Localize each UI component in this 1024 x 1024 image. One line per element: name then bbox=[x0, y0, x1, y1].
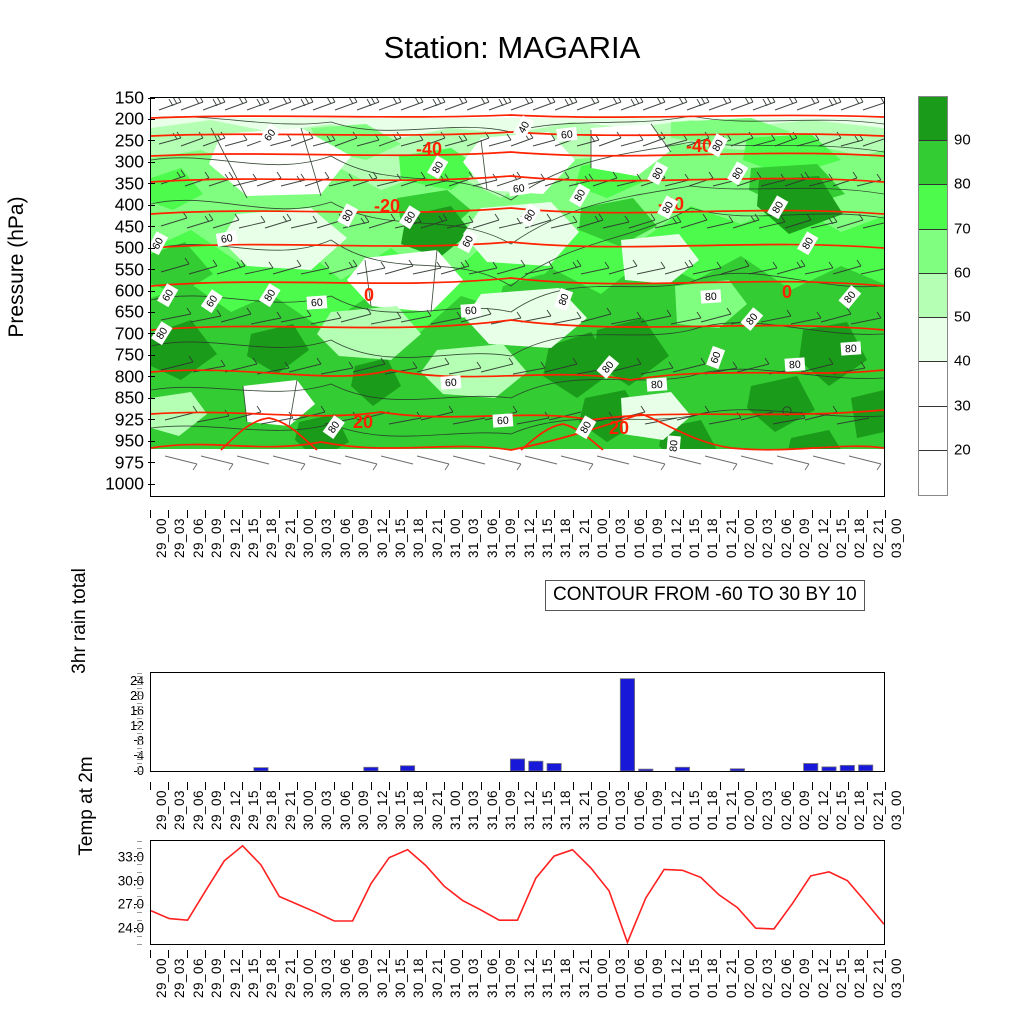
pressure-tick-label: 300 bbox=[88, 152, 144, 173]
time-tick-mark bbox=[554, 510, 555, 518]
time-tick-label: 01_03 bbox=[613, 790, 628, 830]
main-contour-panel: -40 -40 -20 -20 0 0 20 20 60 80 80 80 60… bbox=[150, 97, 885, 497]
time-tick-mark bbox=[481, 510, 482, 518]
time-tick-label: 30_12 bbox=[375, 518, 390, 558]
time-tick-label: 01_09 bbox=[650, 958, 665, 998]
time-tick-mark bbox=[701, 510, 702, 518]
time-tick-label: 29_09 bbox=[209, 518, 224, 558]
time-tick-label: 30_03 bbox=[319, 958, 334, 998]
time-tick-mark bbox=[315, 782, 316, 790]
svg-text:80: 80 bbox=[705, 291, 718, 304]
time-tick-mark bbox=[150, 510, 151, 518]
svg-text:60: 60 bbox=[445, 377, 458, 390]
below-surface-blank bbox=[151, 450, 884, 496]
time-tick-mark bbox=[793, 510, 794, 518]
rain-minor-tick bbox=[137, 691, 142, 692]
time-tick-mark bbox=[775, 510, 776, 518]
time-tick-mark bbox=[371, 782, 372, 790]
time-tick-label: 02_06 bbox=[779, 790, 794, 830]
time-tick-label: 29_03 bbox=[172, 958, 187, 998]
time-tick-mark bbox=[830, 782, 831, 790]
rain-minor-tick bbox=[137, 729, 142, 730]
time-tick-mark bbox=[205, 510, 206, 518]
colorbar-tick-labels: 9080706050403020 bbox=[918, 96, 1018, 496]
time-tick-mark bbox=[830, 510, 831, 518]
time-tick-label: 29_06 bbox=[191, 518, 206, 558]
time-tick-label: 02_03 bbox=[760, 790, 775, 830]
time-tick-mark bbox=[444, 950, 445, 958]
rain-minor-tick bbox=[137, 680, 142, 681]
temperature-minor-tick bbox=[137, 888, 142, 889]
time-tick-label: 02_09 bbox=[797, 518, 812, 558]
time-tick-label: 29_00 bbox=[154, 958, 169, 998]
time-tick-label: 29_21 bbox=[283, 790, 298, 830]
time-tick-mark bbox=[885, 782, 886, 790]
rain-bar bbox=[804, 763, 818, 771]
rain-bar bbox=[547, 763, 561, 771]
time-tick-mark bbox=[665, 782, 666, 790]
time-tick-mark bbox=[573, 510, 574, 518]
time-tick-label: 01_09 bbox=[650, 518, 665, 558]
time-tick-mark bbox=[867, 950, 868, 958]
rain-minor-tick bbox=[137, 740, 142, 741]
time-tick-mark bbox=[150, 782, 151, 790]
rain-minor-tick bbox=[137, 718, 142, 719]
time-tick-label: 29_15 bbox=[246, 958, 261, 998]
time-tick-label: 02_03 bbox=[760, 958, 775, 998]
rain-panel bbox=[150, 672, 885, 772]
rain-minor-tick bbox=[137, 699, 142, 700]
rain-y-axis-labels: 24201612840 bbox=[104, 672, 144, 772]
time-tick-mark bbox=[701, 950, 702, 958]
temperature-minor-tick bbox=[137, 848, 142, 849]
time-tick-label: 29_00 bbox=[154, 518, 169, 558]
temperature-minor-tick bbox=[137, 856, 142, 857]
time-tick-label: 31_00 bbox=[448, 958, 463, 998]
time-tick-label: 30_12 bbox=[375, 958, 390, 998]
pressure-tick-mark bbox=[148, 291, 155, 292]
time-tick-mark bbox=[426, 950, 427, 958]
time-tick-label: 30_09 bbox=[356, 518, 371, 558]
time-tick-label: 02_12 bbox=[816, 518, 831, 558]
time-tick-mark bbox=[224, 782, 225, 790]
time-tick-label: 31_18 bbox=[558, 790, 573, 830]
time-tick-mark bbox=[848, 950, 849, 958]
pressure-tick-mark bbox=[148, 162, 155, 163]
time-tick-mark bbox=[756, 782, 757, 790]
pressure-tick-mark bbox=[148, 462, 155, 463]
time-tick-mark bbox=[279, 510, 280, 518]
rain-minor-tick bbox=[137, 744, 142, 745]
time-tick-mark bbox=[462, 510, 463, 518]
rain-minor-tick bbox=[137, 688, 142, 689]
temperature-minor-tick bbox=[137, 944, 142, 945]
colorbar-tick-label: 20 bbox=[954, 441, 971, 458]
time-tick-label: 31_15 bbox=[540, 958, 555, 998]
time-tick-label: 30_15 bbox=[393, 958, 408, 998]
time-tick-label: 31_00 bbox=[448, 518, 463, 558]
time-tick-mark bbox=[481, 782, 482, 790]
rain-minor-tick bbox=[137, 673, 142, 674]
time-tick-label: 02_18 bbox=[852, 518, 867, 558]
svg-text:80: 80 bbox=[845, 343, 858, 356]
time-tick-label: 29_06 bbox=[191, 790, 206, 830]
svg-text:80: 80 bbox=[651, 379, 664, 392]
time-tick-mark bbox=[628, 510, 629, 518]
time-tick-mark bbox=[260, 950, 261, 958]
rain-minor-tick bbox=[137, 752, 142, 753]
time-tick-mark bbox=[224, 950, 225, 958]
svg-text:80: 80 bbox=[668, 439, 681, 452]
time-tick-mark bbox=[609, 782, 610, 790]
time-tick-mark bbox=[830, 950, 831, 958]
time-tick-mark bbox=[168, 510, 169, 518]
time-tick-label: 30_18 bbox=[411, 790, 426, 830]
temperature-minor-tick bbox=[137, 904, 142, 905]
time-tick-label: 02_12 bbox=[816, 790, 831, 830]
pressure-tick-mark bbox=[148, 376, 155, 377]
pressure-tick-mark bbox=[148, 333, 155, 334]
time-tick-mark bbox=[334, 950, 335, 958]
rain-minor-tick bbox=[137, 737, 142, 738]
time-tick-label: 02_03 bbox=[760, 518, 775, 558]
time-tick-label: 31_21 bbox=[577, 958, 592, 998]
time-tick-label: 30_06 bbox=[338, 790, 353, 830]
colorbar-tick-label: 90 bbox=[954, 132, 971, 149]
time-tick-label: 02_21 bbox=[871, 518, 886, 558]
temperature-line-chart bbox=[151, 841, 884, 944]
time-tick-mark bbox=[205, 782, 206, 790]
time-tick-label: 01_00 bbox=[595, 958, 610, 998]
time-tick-label: 30_00 bbox=[301, 518, 316, 558]
time-tick-label: 01_00 bbox=[595, 518, 610, 558]
time-tick-mark bbox=[812, 782, 813, 790]
time-tick-mark bbox=[848, 510, 849, 518]
time-tick-mark bbox=[426, 510, 427, 518]
time-tick-mark bbox=[793, 950, 794, 958]
time-tick-mark bbox=[444, 510, 445, 518]
time-tick-mark bbox=[756, 510, 757, 518]
rain-minor-tick bbox=[137, 710, 142, 711]
time-tick-label: 31_03 bbox=[466, 790, 481, 830]
pressure-tick-label: 850 bbox=[88, 388, 144, 409]
time-tick-label: 01_03 bbox=[613, 958, 628, 998]
time-tick-mark bbox=[352, 510, 353, 518]
contour-note-box: CONTOUR FROM -60 TO 30 BY 10 bbox=[545, 580, 865, 611]
time-tick-mark bbox=[260, 782, 261, 790]
time-tick-label: 31_00 bbox=[448, 790, 463, 830]
rain-bar bbox=[675, 767, 689, 771]
pressure-tick-label: 200 bbox=[88, 109, 144, 130]
time-tick-label: 01_06 bbox=[632, 790, 647, 830]
pressure-tick-label: 250 bbox=[88, 130, 144, 151]
time-tick-label: 02_06 bbox=[779, 958, 794, 998]
pressure-tick-label: 1000 bbox=[88, 474, 144, 495]
time-tick-label: 02_18 bbox=[852, 790, 867, 830]
pressure-tick-label: 700 bbox=[88, 323, 144, 344]
time-tick-mark bbox=[591, 950, 592, 958]
time-tick-label: 31_09 bbox=[503, 518, 518, 558]
time-tick-mark bbox=[242, 510, 243, 518]
time-tick-mark bbox=[793, 782, 794, 790]
pressure-tick-mark bbox=[148, 269, 155, 270]
time-tick-mark bbox=[738, 510, 739, 518]
pressure-tick-mark bbox=[148, 441, 155, 442]
temperature-minor-tick bbox=[137, 864, 142, 865]
rain-bar bbox=[840, 765, 854, 771]
time-tick-label: 29_18 bbox=[264, 790, 279, 830]
time-tick-mark bbox=[352, 950, 353, 958]
time-tick-label: 01_15 bbox=[687, 790, 702, 830]
time-tick-mark bbox=[242, 950, 243, 958]
isotherm-label: -40 bbox=[686, 136, 712, 156]
isotherm-label: 20 bbox=[609, 418, 629, 438]
time-tick-mark bbox=[371, 510, 372, 518]
time-tick-mark bbox=[665, 510, 666, 518]
time-tick-label: 30_21 bbox=[430, 790, 445, 830]
time-tick-label: 01_21 bbox=[724, 790, 739, 830]
time-tick-label: 01_18 bbox=[705, 958, 720, 998]
time-tick-mark bbox=[775, 950, 776, 958]
time-tick-label: 30_15 bbox=[393, 790, 408, 830]
time-tick-mark bbox=[609, 950, 610, 958]
time-tick-label: 31_18 bbox=[558, 518, 573, 558]
time-tick-mark bbox=[279, 782, 280, 790]
pressure-tick-label: 925 bbox=[88, 409, 144, 430]
time-tick-mark bbox=[738, 782, 739, 790]
time-tick-mark bbox=[628, 950, 629, 958]
pressure-tick-label: 150 bbox=[88, 88, 144, 109]
time-tick-mark bbox=[518, 510, 519, 518]
time-tick-mark bbox=[665, 950, 666, 958]
time-tick-label: 03_00 bbox=[889, 790, 904, 830]
time-tick-label: 01_18 bbox=[705, 790, 720, 830]
rain-minor-tick bbox=[137, 759, 142, 760]
pressure-tick-label: 500 bbox=[88, 238, 144, 259]
time-tick-mark bbox=[812, 510, 813, 518]
time-tick-label: 31_03 bbox=[466, 518, 481, 558]
time-tick-label: 30_18 bbox=[411, 958, 426, 998]
rain-bar bbox=[620, 679, 634, 771]
time-tick-mark bbox=[573, 782, 574, 790]
temperature-minor-tick bbox=[137, 841, 142, 842]
contour-cross-section: -40 -40 -20 -20 0 0 20 20 60 80 80 80 60… bbox=[151, 98, 884, 496]
time-tick-mark bbox=[848, 782, 849, 790]
time-tick-label: 30_12 bbox=[375, 790, 390, 830]
time-tick-mark bbox=[168, 950, 169, 958]
time-tick-mark bbox=[352, 782, 353, 790]
rain-bar bbox=[510, 759, 524, 771]
time-tick-mark bbox=[242, 782, 243, 790]
time-tick-mark bbox=[279, 950, 280, 958]
time-tick-mark bbox=[315, 950, 316, 958]
time-tick-label: 02_06 bbox=[779, 518, 794, 558]
time-tick-label: 30_03 bbox=[319, 518, 334, 558]
time-tick-label: 02_15 bbox=[834, 958, 849, 998]
time-tick-label: 29_03 bbox=[172, 518, 187, 558]
rain-minor-tick bbox=[137, 684, 142, 685]
time-tick-mark bbox=[573, 950, 574, 958]
time-tick-label: 01_06 bbox=[632, 518, 647, 558]
time-tick-mark bbox=[518, 950, 519, 958]
time-tick-mark bbox=[260, 510, 261, 518]
time-tick-label: 31_21 bbox=[577, 790, 592, 830]
time-tick-mark bbox=[591, 510, 592, 518]
time-tick-mark bbox=[187, 782, 188, 790]
pressure-tick-mark bbox=[148, 419, 155, 420]
colorbar-tick-label: 60 bbox=[954, 264, 971, 281]
time-tick-mark bbox=[297, 510, 298, 518]
time-tick-mark bbox=[701, 782, 702, 790]
time-tick-label: 30_09 bbox=[356, 790, 371, 830]
temperature-minor-tick bbox=[137, 920, 142, 921]
time-tick-mark bbox=[389, 510, 390, 518]
pressure-tick-mark bbox=[148, 119, 155, 120]
time-tick-label: 02_00 bbox=[742, 958, 757, 998]
time-tick-label: 01_12 bbox=[669, 958, 684, 998]
colorbar-tick-label: 30 bbox=[954, 397, 971, 414]
time-tick-label: 01_21 bbox=[724, 518, 739, 558]
time-tick-label: 29_03 bbox=[172, 790, 187, 830]
time-tick-label: 31_15 bbox=[540, 790, 555, 830]
time-tick-label: 29_12 bbox=[228, 790, 243, 830]
isotherm-label: -20 bbox=[374, 196, 400, 216]
time-tick-mark bbox=[168, 782, 169, 790]
temperature-minor-tick bbox=[137, 880, 142, 881]
rain-minor-tick bbox=[137, 755, 142, 756]
time-tick-mark bbox=[187, 510, 188, 518]
time-tick-mark bbox=[389, 950, 390, 958]
temperature-x-axis-labels: 29_0029_0329_0629_0929_1229_1529_1829_21… bbox=[150, 958, 885, 1018]
time-tick-mark bbox=[591, 782, 592, 790]
rain-bar bbox=[730, 769, 744, 771]
temperature-y-axis-title: Temp at 2m bbox=[76, 691, 98, 921]
svg-text:60: 60 bbox=[497, 415, 510, 428]
time-tick-label: 30_03 bbox=[319, 790, 334, 830]
svg-text:60: 60 bbox=[220, 232, 234, 246]
temperature-minor-tick bbox=[137, 872, 142, 873]
rain-minor-tick bbox=[137, 767, 142, 768]
time-tick-mark bbox=[224, 510, 225, 518]
page-title: Station: MAGARIA bbox=[0, 30, 1024, 66]
time-tick-mark bbox=[646, 510, 647, 518]
rain-minor-tick bbox=[137, 676, 142, 677]
time-tick-mark bbox=[628, 782, 629, 790]
time-tick-mark bbox=[756, 950, 757, 958]
pressure-tick-mark bbox=[148, 205, 155, 206]
time-tick-label: 29_00 bbox=[154, 790, 169, 830]
rain-minor-tick bbox=[137, 748, 142, 749]
time-tick-mark bbox=[462, 782, 463, 790]
svg-text:60: 60 bbox=[311, 297, 324, 310]
pressure-tick-label: 800 bbox=[88, 366, 144, 387]
main-y-axis-title: Pressure (hPa) bbox=[5, 87, 29, 447]
time-tick-mark bbox=[334, 510, 335, 518]
time-tick-mark bbox=[407, 782, 408, 790]
time-tick-mark bbox=[720, 950, 721, 958]
pressure-tick-mark bbox=[148, 248, 155, 249]
time-tick-mark bbox=[499, 782, 500, 790]
rain-bar bbox=[822, 767, 836, 771]
time-tick-mark bbox=[444, 782, 445, 790]
time-tick-mark bbox=[646, 782, 647, 790]
time-tick-mark bbox=[554, 950, 555, 958]
pressure-tick-mark bbox=[148, 312, 155, 313]
time-tick-label: 02_15 bbox=[834, 518, 849, 558]
time-tick-label: 29_12 bbox=[228, 518, 243, 558]
time-tick-label: 02_15 bbox=[834, 790, 849, 830]
rain-minor-tick bbox=[137, 706, 142, 707]
rain-bar-chart bbox=[151, 673, 884, 771]
time-tick-mark bbox=[609, 510, 610, 518]
rain-minor-tick bbox=[137, 703, 142, 704]
time-tick-label: 30_21 bbox=[430, 958, 445, 998]
colorbar-tick-label: 50 bbox=[954, 309, 971, 326]
time-tick-label: 02_12 bbox=[816, 958, 831, 998]
time-tick-mark bbox=[187, 950, 188, 958]
time-tick-label: 29_06 bbox=[191, 958, 206, 998]
time-tick-label: 01_12 bbox=[669, 518, 684, 558]
time-tick-label: 30_18 bbox=[411, 518, 426, 558]
rain-bar bbox=[400, 766, 414, 771]
pressure-tick-mark bbox=[148, 398, 155, 399]
time-tick-label: 29_09 bbox=[209, 790, 224, 830]
time-tick-label: 01_06 bbox=[632, 958, 647, 998]
time-tick-mark bbox=[315, 510, 316, 518]
time-tick-label: 30_15 bbox=[393, 518, 408, 558]
time-tick-label: 01_21 bbox=[724, 958, 739, 998]
time-tick-mark bbox=[297, 950, 298, 958]
time-tick-label: 29_18 bbox=[264, 958, 279, 998]
time-tick-label: 31_15 bbox=[540, 518, 555, 558]
isotherm-label: 0 bbox=[782, 282, 792, 302]
time-tick-mark bbox=[554, 782, 555, 790]
time-tick-mark bbox=[334, 782, 335, 790]
colorbar-tick-label: 40 bbox=[954, 353, 971, 370]
time-tick-label: 31_09 bbox=[503, 958, 518, 998]
temperature-minor-tick bbox=[137, 928, 142, 929]
time-tick-mark bbox=[885, 950, 886, 958]
rain-bar bbox=[364, 767, 378, 771]
time-tick-mark bbox=[518, 782, 519, 790]
time-tick-label: 02_09 bbox=[797, 958, 812, 998]
time-tick-label: 31_12 bbox=[522, 958, 537, 998]
isotherm-label: 20 bbox=[353, 412, 373, 432]
pressure-tick-label: 975 bbox=[88, 452, 144, 473]
pressure-tick-label: 950 bbox=[88, 431, 144, 452]
time-tick-label: 02_09 bbox=[797, 790, 812, 830]
svg-text:60: 60 bbox=[512, 182, 525, 196]
time-tick-label: 01_15 bbox=[687, 958, 702, 998]
pressure-tick-mark bbox=[148, 98, 155, 99]
time-tick-mark bbox=[738, 950, 739, 958]
svg-text:60: 60 bbox=[465, 305, 478, 318]
temperature-minor-tick bbox=[137, 912, 142, 913]
time-tick-label: 01_09 bbox=[650, 790, 665, 830]
colorbar-tick-label: 70 bbox=[954, 220, 971, 237]
pressure-tick-mark bbox=[148, 484, 155, 485]
time-tick-mark bbox=[683, 782, 684, 790]
time-tick-label: 01_00 bbox=[595, 790, 610, 830]
rain-bar bbox=[639, 769, 653, 771]
time-tick-label: 01_18 bbox=[705, 518, 720, 558]
isotherm-label: 0 bbox=[364, 285, 374, 305]
time-tick-label: 31_09 bbox=[503, 790, 518, 830]
colorbar-tick-label: 80 bbox=[954, 176, 971, 193]
time-tick-label: 31_21 bbox=[577, 518, 592, 558]
time-tick-label: 02_00 bbox=[742, 790, 757, 830]
time-tick-label: 31_06 bbox=[485, 518, 500, 558]
